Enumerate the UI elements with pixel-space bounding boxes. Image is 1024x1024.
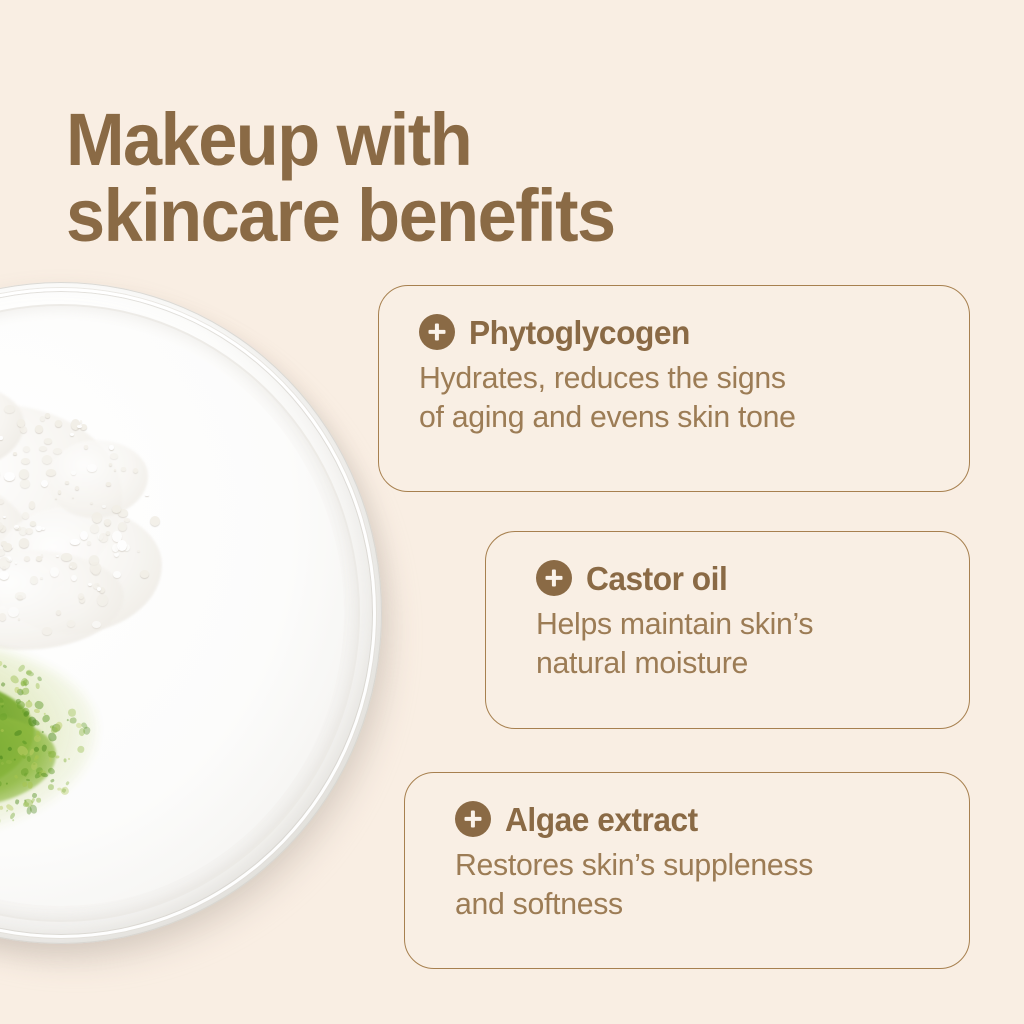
benefit-title: Castor oil — [586, 562, 727, 595]
benefit-card-castor-oil[interactable]: Castor oil Helps maintain skin’s natural… — [485, 531, 970, 729]
product-benefits-graphic: Makeup with skincare benefits — [0, 0, 1024, 1024]
benefit-description: Hydrates, reduces the signs of aging and… — [419, 358, 930, 436]
benefit-title: Algae extract — [505, 803, 698, 836]
product-photo — [0, 282, 400, 982]
plus-icon — [536, 560, 572, 596]
page-title: Makeup with skincare benefits — [66, 102, 788, 254]
plus-icon — [419, 314, 455, 350]
benefit-card-header: Phytoglycogen — [419, 314, 943, 350]
benefit-card-phytoglycogen[interactable]: Phytoglycogen Hydrates, reduces the sign… — [378, 285, 970, 492]
plus-icon — [455, 801, 491, 837]
benefit-card-header: Castor oil — [536, 560, 943, 596]
benefit-title: Phytoglycogen — [469, 316, 690, 349]
benefit-card-header: Algae extract — [455, 801, 943, 837]
benefit-card-algae-extract[interactable]: Algae extract Restores skin’s suppleness… — [404, 772, 970, 969]
benefit-description: Helps maintain skin’s natural moisture — [536, 604, 933, 682]
benefit-description: Restores skin’s suppleness and softness — [455, 845, 931, 923]
